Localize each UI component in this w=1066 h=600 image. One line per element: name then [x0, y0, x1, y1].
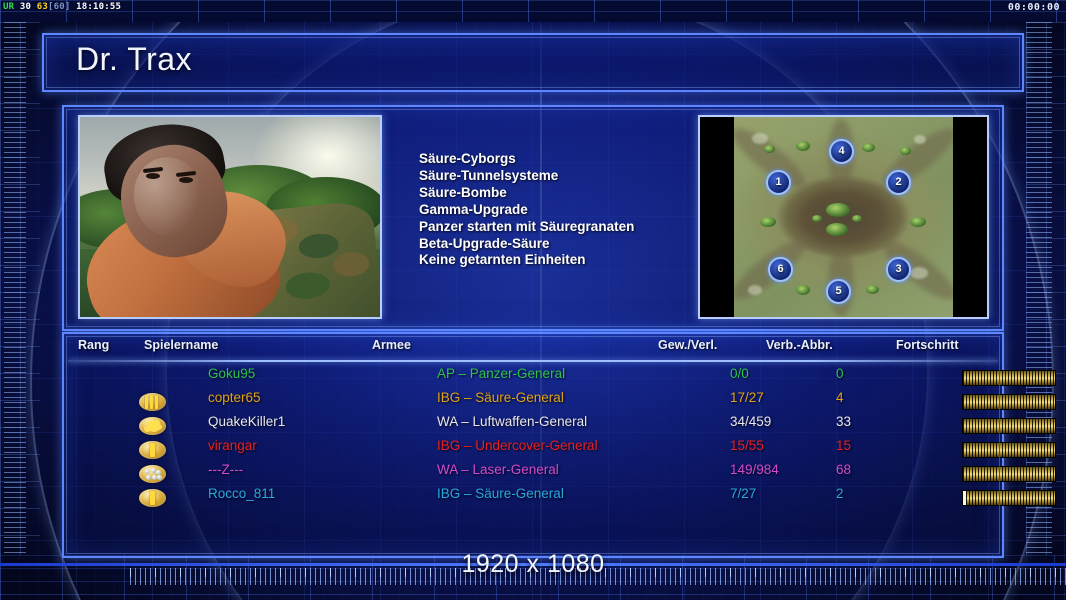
- player-win-loss: 34/459: [730, 414, 771, 429]
- player-disconnects: 68: [836, 462, 851, 477]
- title-panel: Dr. Trax: [42, 33, 1024, 92]
- player-disconnects: 2: [836, 486, 844, 501]
- player-disconnects: 4: [836, 390, 844, 405]
- ability-item: Panzer starten mit Säuregranaten: [419, 219, 634, 236]
- player-win-loss: 149/984: [730, 462, 779, 477]
- progress-bar-marker: [963, 491, 966, 505]
- player-win-loss: 17/27: [730, 390, 764, 405]
- left-ruler-decoration: [0, 22, 40, 555]
- rank-insignia-icon: [139, 441, 166, 459]
- header-progress: Fortschritt: [896, 338, 959, 352]
- player-army: IBG – Säure-General: [437, 390, 564, 405]
- player-table-panel: Rang Spielername Armee Gew./Verl. Verb.-…: [62, 332, 1004, 558]
- table-row[interactable]: Rocco_811IBG – Säure-General7/272: [64, 486, 1002, 510]
- minimap-start-position-5[interactable]: 5: [826, 279, 851, 304]
- page-title: Dr. Trax: [76, 41, 192, 78]
- progress-bar: [962, 370, 1056, 386]
- player-win-loss: 7/27: [730, 486, 756, 501]
- rank-insignia-icon: [139, 393, 166, 411]
- player-win-loss: 0/0: [730, 366, 749, 381]
- player-army: IBG – Säure-General: [437, 486, 564, 501]
- player-name: ---Z---: [208, 462, 243, 477]
- player-disconnects: 15: [836, 438, 851, 453]
- progress-bar: [962, 442, 1056, 458]
- rank-insignia-icon: [139, 489, 166, 507]
- header-player: Spielername: [144, 338, 218, 352]
- player-name: QuakeKiller1: [208, 414, 285, 429]
- player-army: IBG – Undercover-General: [437, 438, 598, 453]
- ability-item: Keine getarnten Einheiten: [419, 252, 634, 269]
- table-header-row: Rang Spielername Armee Gew./Verl. Verb.-…: [64, 338, 1002, 360]
- player-win-loss: 15/55: [730, 438, 764, 453]
- player-name: Goku95: [208, 366, 255, 381]
- resolution-label: 1920 x 1080: [0, 550, 1066, 579]
- general-info-panel: Säure-CyborgsSäure-TunnelsystemeSäure-Bo…: [62, 105, 1004, 331]
- hud-fps: 30: [20, 2, 31, 12]
- player-disconnects: 33: [836, 414, 851, 429]
- minimap-panel: 1 2 3 4 5 6: [698, 115, 989, 319]
- hud-performance-text: UR 30 63[60] 18:10:55: [3, 2, 121, 12]
- table-row[interactable]: Goku95AP – Panzer-General0/00: [64, 366, 1002, 390]
- ability-item: Säure-Cyborgs: [419, 151, 634, 168]
- minimap-image: 1 2 3 4 5 6: [734, 117, 953, 317]
- table-row[interactable]: QuakeKiller1WA – Luftwaffen-General34/45…: [64, 414, 1002, 438]
- minimap-start-position-3[interactable]: 3: [886, 257, 911, 282]
- table-row[interactable]: virangarIBG – Undercover-General15/5515: [64, 438, 1002, 462]
- header-disconnects: Verb.-Abbr.: [766, 338, 833, 352]
- player-name: copter65: [208, 390, 261, 405]
- minimap-start-position-1[interactable]: 1: [766, 170, 791, 195]
- header-winloss: Gew./Verl.: [658, 338, 717, 352]
- game-lobby-screen: UR 30 63[60] 18:10:55 00:00:00 Dr. Trax: [0, 0, 1066, 600]
- rank-insignia-icon: [139, 417, 166, 435]
- ability-item: Gamma-Upgrade: [419, 202, 634, 219]
- table-row[interactable]: ---Z---WA – Laser-General149/98468: [64, 462, 1002, 486]
- progress-bar: [962, 466, 1056, 482]
- table-row[interactable]: copter65IBG – Säure-General17/274: [64, 390, 1002, 414]
- player-disconnects: 0: [836, 366, 844, 381]
- player-army: WA – Luftwaffen-General: [437, 414, 587, 429]
- progress-bar: [962, 394, 1056, 410]
- player-army: AP – Panzer-General: [437, 366, 565, 381]
- general-abilities-list: Säure-CyborgsSäure-TunnelsystemeSäure-Bo…: [419, 151, 634, 269]
- player-name: virangar: [208, 438, 257, 453]
- header-army: Armee: [372, 338, 411, 352]
- hud-stat-bracket: [60]: [48, 2, 70, 12]
- top-hud-bar: UR 30 63[60] 18:10:55 00:00:00: [0, 0, 1066, 22]
- header-rank: Rang: [78, 338, 109, 352]
- ability-item: Säure-Tunnelsysteme: [419, 168, 634, 185]
- table-header-divider: [68, 360, 998, 362]
- minimap-start-position-4[interactable]: 4: [829, 139, 854, 164]
- player-name: Rocco_811: [208, 486, 275, 501]
- general-portrait-image: [78, 115, 382, 319]
- minimap-start-position-2[interactable]: 2: [886, 170, 911, 195]
- match-timer: 00:00:00: [1008, 2, 1060, 13]
- progress-bar: [962, 490, 1056, 506]
- ability-item: Säure-Bombe: [419, 185, 634, 202]
- progress-bar: [962, 418, 1056, 434]
- rank-insignia-icon: [139, 465, 166, 483]
- hud-stat-value: 63: [37, 2, 48, 12]
- hud-stats-label: UR: [3, 2, 14, 12]
- minimap-start-position-6[interactable]: 6: [768, 257, 793, 282]
- player-army: WA – Laser-General: [437, 462, 559, 477]
- hud-clock: 18:10:55: [76, 2, 121, 12]
- ability-item: Beta-Upgrade-Säure: [419, 236, 634, 253]
